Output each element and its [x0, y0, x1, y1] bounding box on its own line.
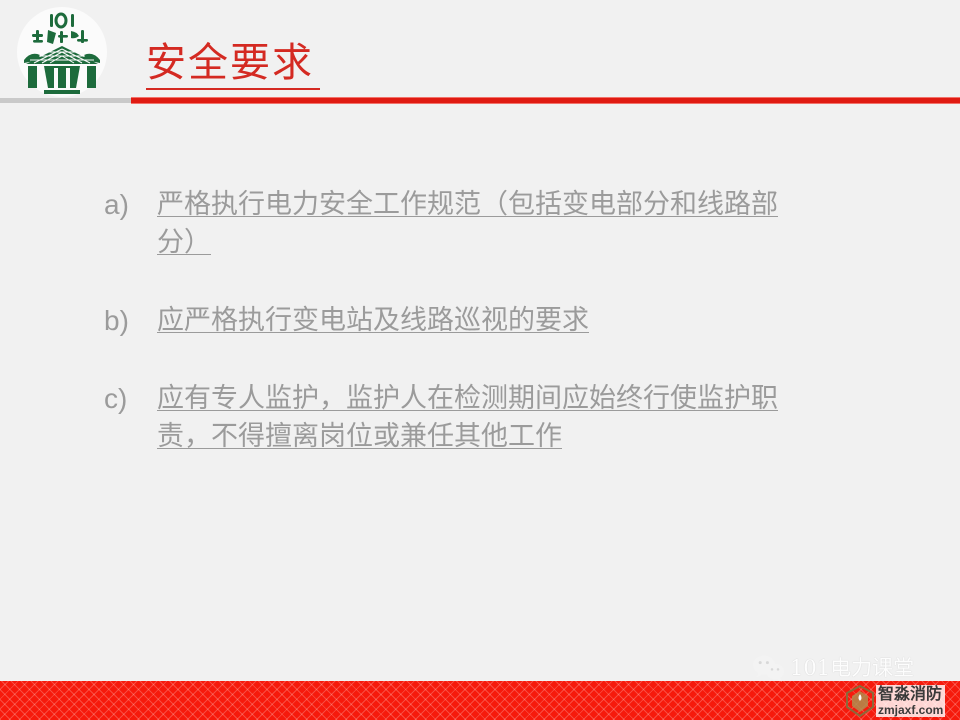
header-divider-red	[131, 97, 960, 104]
list-item-marker: c)	[104, 380, 157, 418]
list-item: c) 应有专人监护，监护人在检测期间应始终行使监护职责，不得擅离岗位或兼任其他工…	[0, 380, 960, 456]
page-title: 安全要求	[146, 40, 320, 90]
bottom-red-band	[0, 681, 960, 720]
wechat-account-name: 101电力课堂	[790, 655, 914, 681]
list-item-text: 应严格执行变电站及线路巡视的要求	[157, 302, 812, 340]
brand-name: 智淼消防	[876, 685, 945, 703]
wechat-watermark: 101电力课堂	[752, 652, 952, 684]
bullet-list: a) 严格执行电力安全工作规范（包括变电部分和线路部分） b) 应严格执行变电站…	[0, 186, 960, 496]
list-item-marker: a)	[104, 186, 157, 224]
wechat-icon	[752, 654, 786, 682]
101-dianli-ketang-logo-icon	[14, 6, 110, 98]
slide-canvas: 安全要求 a) 严格执行电力安全工作规范（包括变电部分和线路部分） b) 应严格…	[0, 0, 960, 720]
brand-site: zmjaxf.com	[876, 703, 945, 717]
list-item-text: 应有专人监护，监护人在检测期间应始终行使监护职责，不得擅离岗位或兼任其他工作	[157, 380, 812, 456]
header-divider-grey	[0, 98, 131, 103]
flame-emblem-icon	[846, 685, 874, 717]
list-item-text: 严格执行电力安全工作规范（包括变电部分和线路部分）	[157, 186, 812, 262]
brand-watermark: 智淼消防 zmjaxf.com	[846, 682, 960, 720]
list-item: a) 严格执行电力安全工作规范（包括变电部分和线路部分）	[0, 186, 960, 262]
slide-header: 安全要求	[0, 0, 960, 108]
list-item-marker: b)	[104, 302, 157, 340]
list-item: b) 应严格执行变电站及线路巡视的要求	[0, 302, 960, 340]
